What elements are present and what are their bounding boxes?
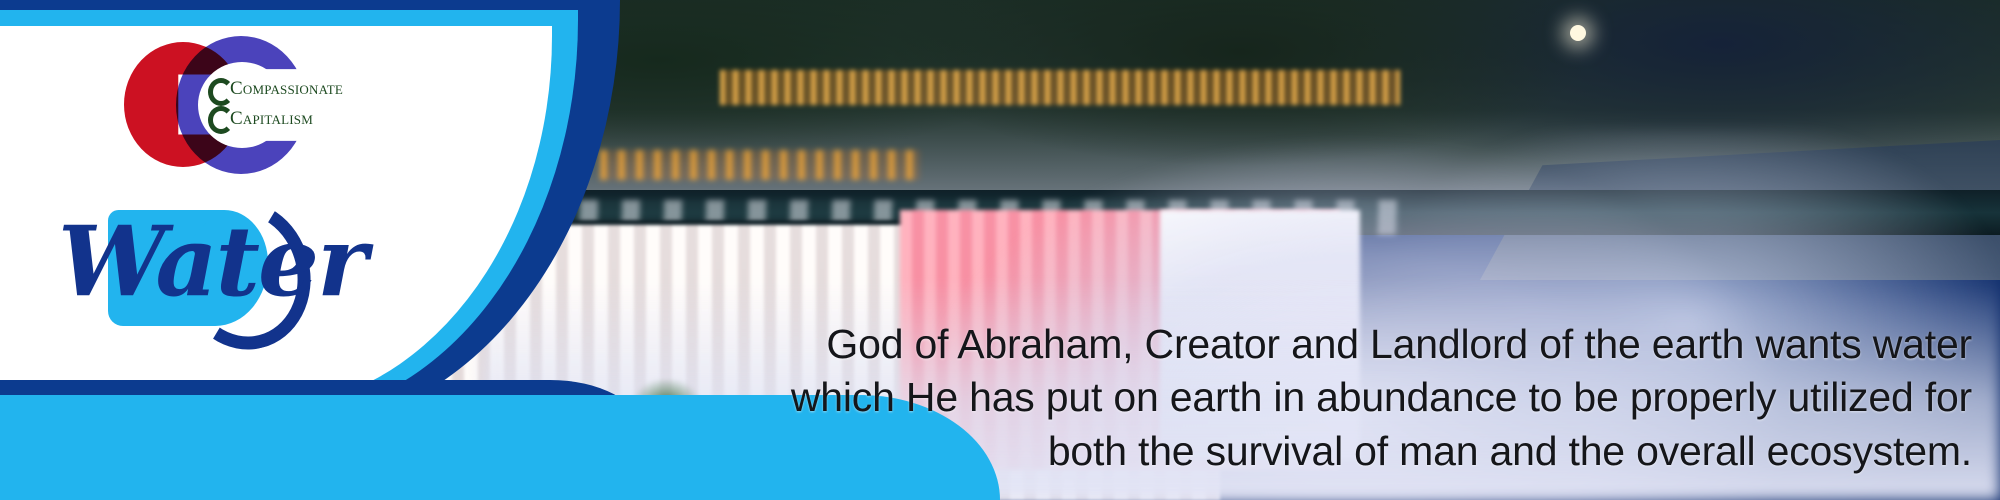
water-wordmark[interactable]: Water (50, 196, 490, 376)
logo-line-capitalism: Capitalism (230, 104, 420, 134)
quote-line-1: God of Abraham, Creator and Landlord of … (682, 318, 1972, 371)
quote-text: God of Abraham, Creator and Landlord of … (682, 318, 1972, 478)
quote-line-2: which He has put on earth in abundance t… (682, 371, 1972, 424)
compassionate-capitalism-logo[interactable]: Compassionate Capitalism (124, 36, 404, 176)
water-word-text: Water (58, 214, 488, 310)
building-lights (720, 70, 1400, 105)
moon-icon (1570, 25, 1586, 41)
lower-lights (600, 150, 920, 180)
logo-wordmark-text: Compassionate Capitalism (230, 74, 420, 134)
logo-line-compassionate: Compassionate (230, 74, 420, 104)
quote-line-3: both the survival of man and the overall… (682, 425, 1972, 478)
water-banner: Compassionate Capitalism Water God of Ab… (0, 0, 2000, 500)
